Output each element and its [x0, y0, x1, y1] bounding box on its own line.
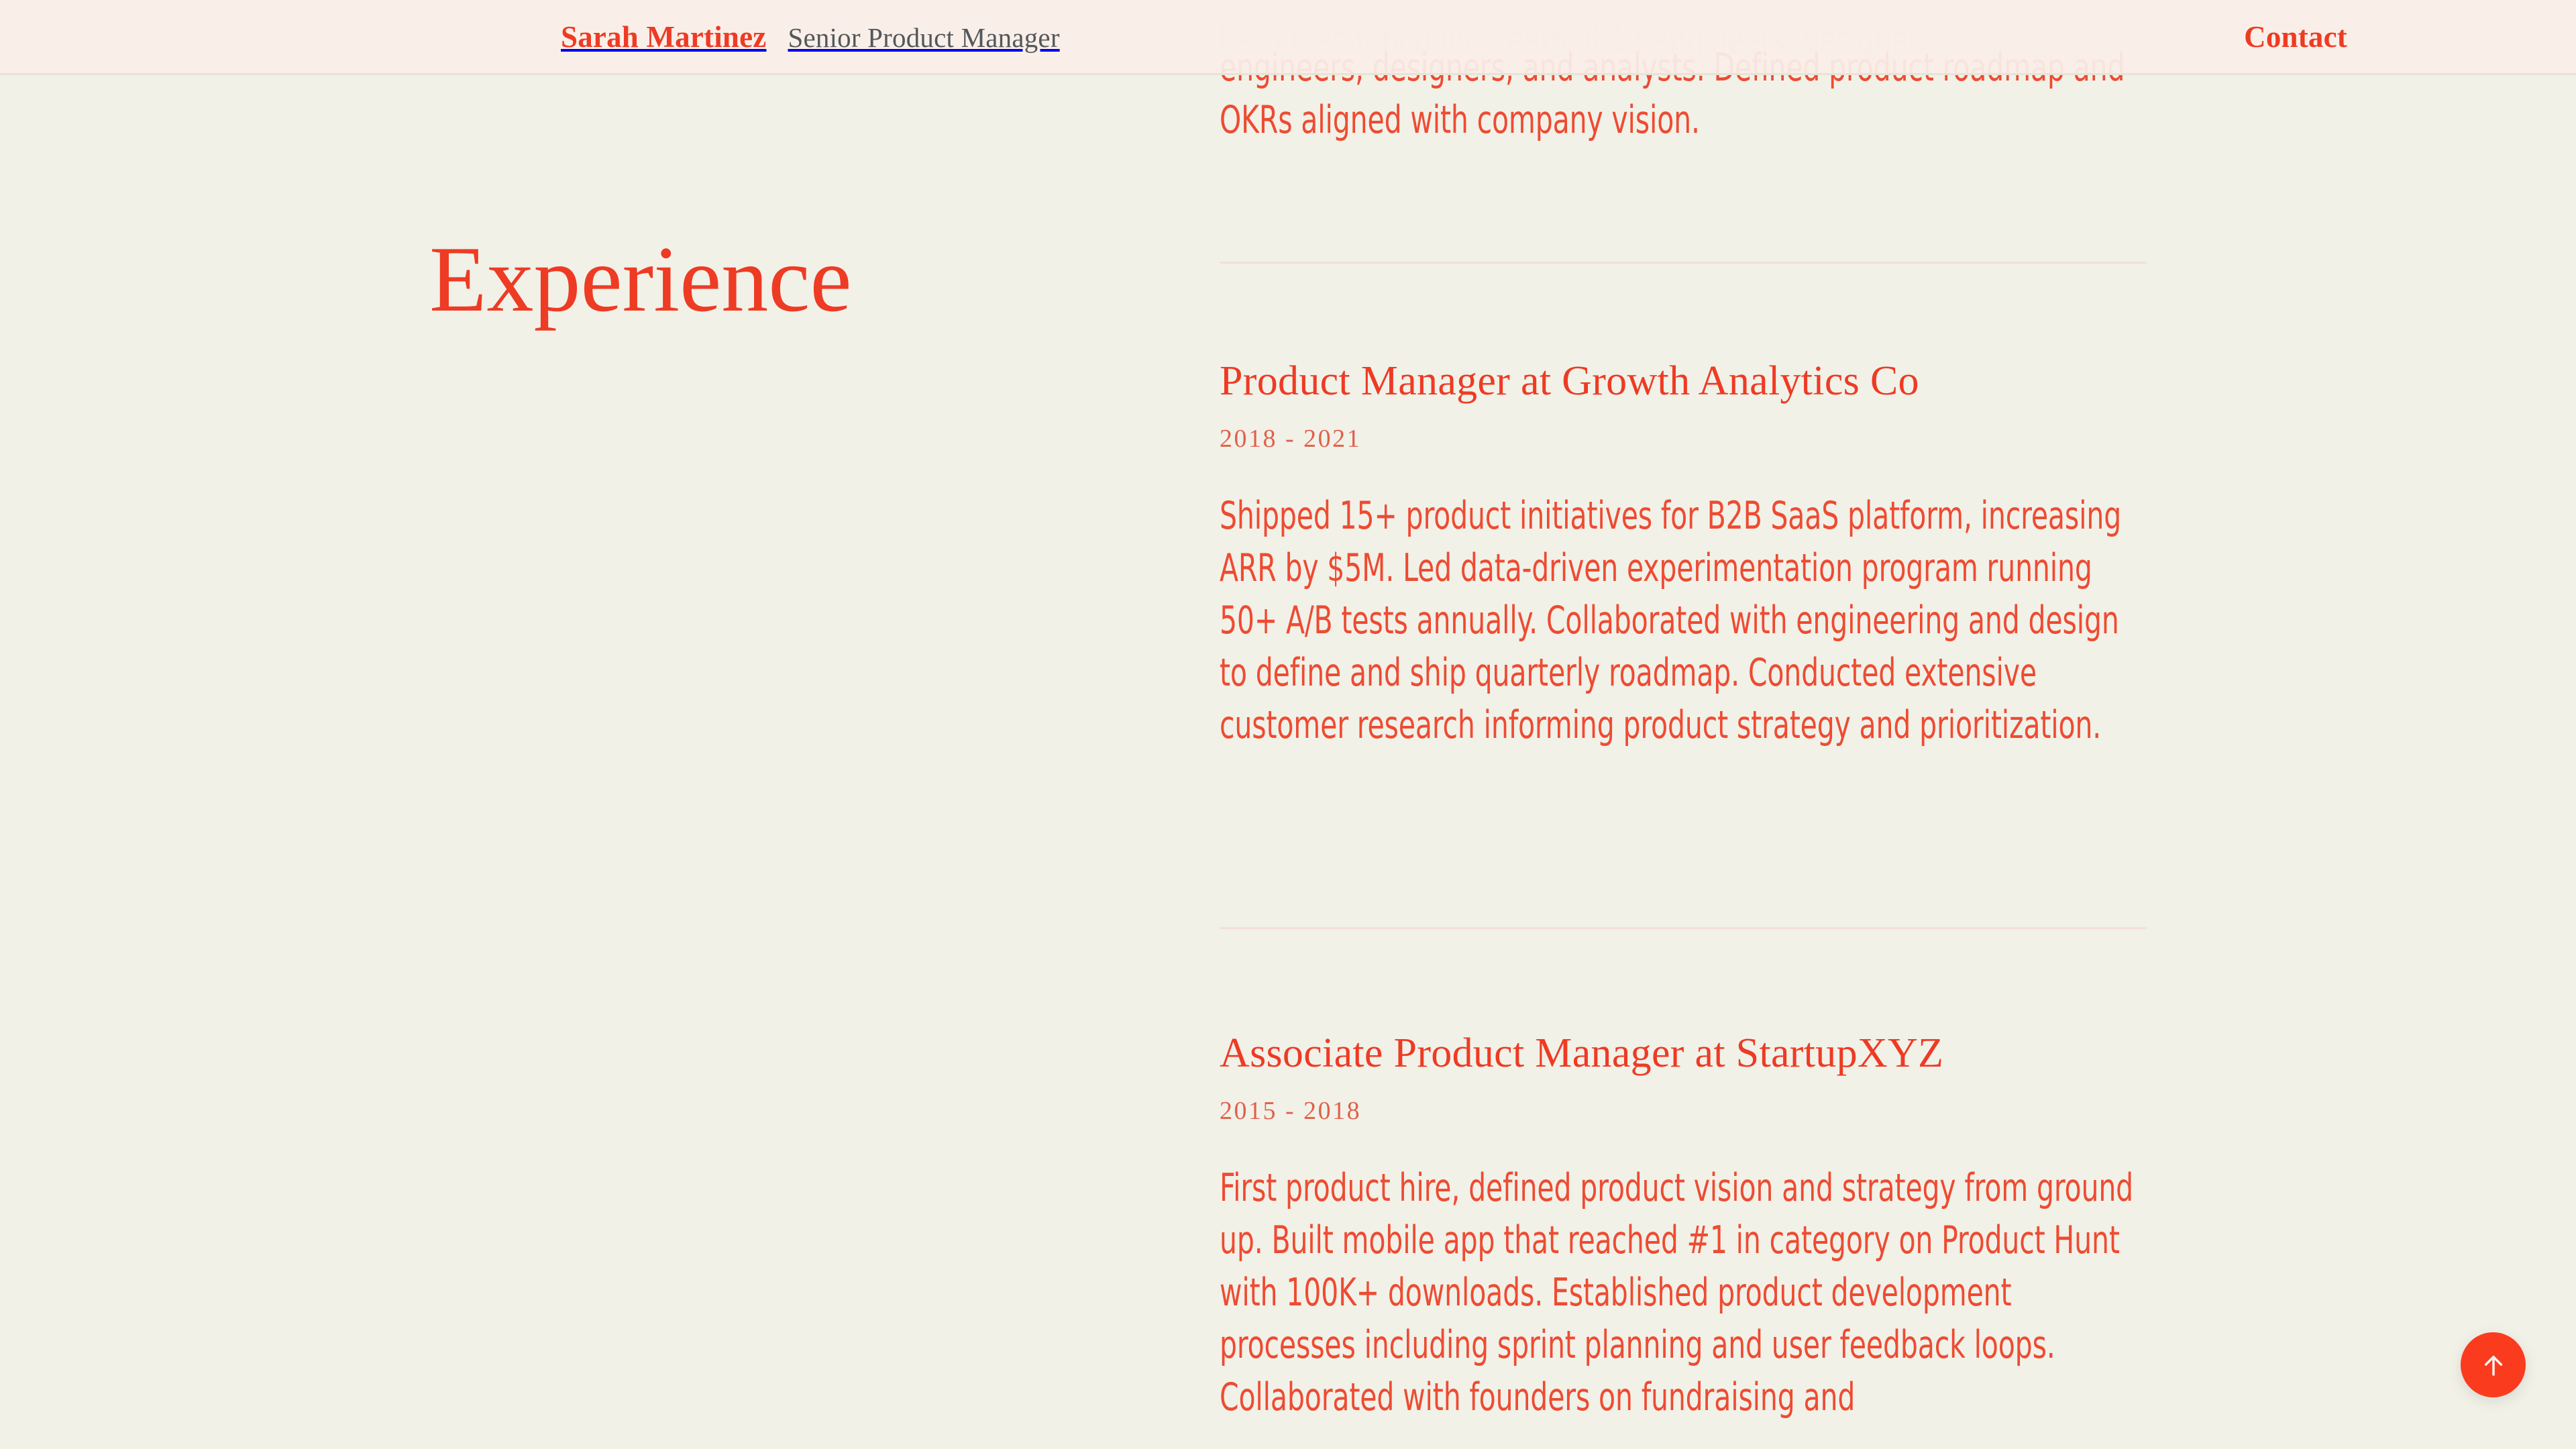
entry-dates: 2018 - 2021 [1220, 424, 2377, 455]
exp-entry: Associate Product Manager at StartupXYZ … [1220, 1030, 2377, 1424]
entry-divider [1220, 927, 2147, 929]
brand-link[interactable]: Sarah Martinez Senior Product Manager [561, 19, 1060, 54]
entry-title: Product Manager at Growth Analytics Co [1220, 358, 2377, 405]
scroll-to-top-button[interactable] [2461, 1332, 2526, 1397]
header-inner: Sarah Martinez Senior Product Manager Co… [0, 0, 2576, 73]
page-root: Led cross-functional team of 12 engineer… [0, 0, 2576, 1449]
site-header: Sarah Martinez Senior Product Manager Co… [0, 0, 2576, 75]
nav-contact-link[interactable]: Contact [2244, 19, 2347, 54]
entry-description: First product hire, defined product visi… [1220, 1162, 2145, 1424]
arrow-up-icon [2479, 1351, 2508, 1379]
brand-name: Sarah Martinez [561, 19, 766, 54]
entry-dates: 2015 - 2018 [1220, 1096, 2377, 1127]
entry-title: Associate Product Manager at StartupXYZ [1220, 1030, 2377, 1077]
entry-divider [1220, 262, 2147, 264]
page-title: Experience [429, 233, 852, 327]
entry-description: Shipped 15+ product initiatives for B2B … [1220, 490, 2145, 751]
brand-role: Senior Product Manager [788, 21, 1059, 54]
exp-entry: Product Manager at Growth Analytics Co 2… [1220, 358, 2377, 751]
